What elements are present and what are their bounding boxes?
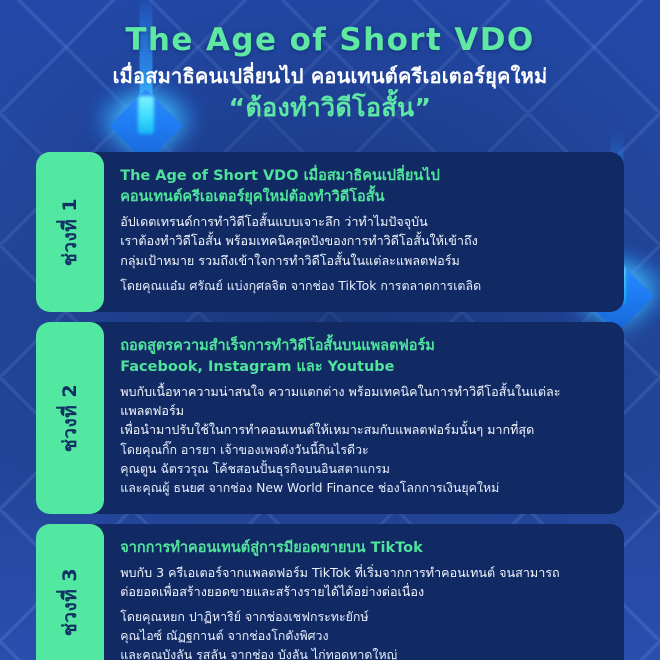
session-description-line: พบกับเนื้อหาความน่าสนใจ ความแตกต่าง พร้อ…	[120, 384, 560, 418]
session-description-line: พบกับ 3 ครีเอเตอร์จากแพลตฟอร์ม TikTok ที…	[120, 565, 559, 580]
session-speakers: โดยคุณแอ๋ม ศรัณย์ แบ่งกุศลจิต จากช่อง Ti…	[120, 277, 602, 296]
session-tab-2[interactable]: ช่วงที่ 2	[36, 322, 104, 514]
session-card-body: ถอดสูตรความสำเร็จการทำวิดีโอสั้นบนแพลตฟอ…	[88, 322, 624, 514]
session-description: พบกับ 3 ครีเอเตอร์จากแพลตฟอร์ม TikTok ที…	[120, 563, 602, 601]
session-speaker-line: และคุณบังลัน รุสลัน จากช่อง บังลัน ไก่ทอ…	[120, 647, 397, 660]
session-speaker-line: โดยคุณแอ๋ม ศรัณย์ แบ่งกุศลจิต จากช่อง Ti…	[120, 278, 481, 293]
session-speaker-line: โดยคุณหยก ปาฏิหาริย์ จากช่องเชฟกระทะยักษ…	[120, 609, 368, 624]
session-description: อัปเดตเทรนด์การทำวิดีโอสั้นแบบเจาะลึก ว่…	[120, 212, 602, 269]
session-card-list: ช่วงที่ 1 The Age of Short VDO เมื่อสมาธ…	[0, 152, 660, 660]
session-card: ช่วงที่ 2 ถอดสูตรความสำเร็จการทำวิดีโอสั…	[36, 322, 624, 514]
poster-header: The Age of Short VDO เมื่อสมาธิคนเปลี่ยน…	[0, 22, 660, 124]
session-speaker-line: คุณตูน ฉัตรวรุณ โค้ชสอนปั้นธุรกิจบนอินสต…	[120, 461, 390, 476]
session-title: ถอดสูตรความสำเร็จการทำวิดีโอสั้นบนแพลตฟอ…	[120, 336, 602, 378]
session-title-line: The Age of Short VDO เมื่อสมาธิคนเปลี่ยน…	[120, 168, 440, 184]
session-card-body: The Age of Short VDO เมื่อสมาธิคนเปลี่ยน…	[88, 152, 624, 312]
session-tab-label: ช่วงที่ 3	[55, 568, 85, 636]
session-speaker-line: และคุณผู้ ธนยศ จากช่อง New World Finance…	[120, 480, 499, 495]
session-description-line: เพื่อนำมาปรับใช้ในการทำคอนเทนต์ให้เหมาะส…	[120, 422, 534, 437]
session-tab-label: ช่วงที่ 1	[55, 198, 85, 266]
session-title: จากการทำคอนเทนต์สู่การมียอดขายบน TikTok	[120, 538, 602, 559]
session-title-line: คอนเทนต์ครีเอเตอร์ยุคใหม่ต้องทำวิดีโอสั้…	[120, 189, 384, 205]
session-speakers: โดยคุณหยก ปาฏิหาริย์ จากช่องเชฟกระทะยักษ…	[120, 608, 602, 660]
session-card-body: จากการทำคอนเทนต์สู่การมียอดขายบน TikTok …	[88, 524, 624, 660]
page-title-english: The Age of Short VDO	[0, 22, 660, 59]
session-title: The Age of Short VDO เมื่อสมาธิคนเปลี่ยน…	[120, 166, 602, 208]
session-card: ช่วงที่ 1 The Age of Short VDO เมื่อสมาธ…	[36, 152, 624, 312]
session-title-line: ถอดสูตรความสำเร็จการทำวิดีโอสั้นบนแพลตฟอ…	[120, 338, 435, 354]
session-description-line: อัปเดตเทรนด์การทำวิดีโอสั้นแบบเจาะลึก ว่…	[120, 214, 428, 229]
session-card: ช่วงที่ 3 จากการทำคอนเทนต์สู่การมียอดขาย…	[36, 524, 624, 660]
session-description: พบกับเนื้อหาความน่าสนใจ ความแตกต่าง พร้อ…	[120, 382, 602, 439]
session-speaker-line: คุณไอซ์ ณัฏฐกานต์ จากช่องโกดังพิศวง	[120, 628, 328, 643]
session-tab-1[interactable]: ช่วงที่ 1	[36, 152, 104, 312]
page-subtitle-thai: เมื่อสมาธิคนเปลี่ยนไป คอนเทนต์ครีเอเตอร์…	[0, 63, 660, 90]
session-description-line: กลุ่มเป้าหมาย รวมถึงเข้าใจการทำวิดีโอสั้…	[120, 253, 460, 268]
session-title-line: Facebook, Instagram และ Youtube	[120, 359, 394, 375]
session-tab-3[interactable]: ช่วงที่ 3	[36, 524, 104, 660]
session-speaker-line: โดยคุณกิ๊ก อารยา เจ้าของเพจดังวันนี้กินไ…	[120, 442, 369, 457]
poster-canvas: The Age of Short VDO เมื่อสมาธิคนเปลี่ยน…	[0, 0, 660, 660]
session-title-line: จากการทำคอนเทนต์สู่การมียอดขายบน TikTok	[120, 540, 423, 556]
session-description-line: เราต้องทำวิดีโอสั้น พร้อมเทคนิคสุดปังของ…	[120, 233, 478, 248]
session-speakers: โดยคุณกิ๊ก อารยา เจ้าของเพจดังวันนี้กินไ…	[120, 441, 602, 498]
session-tab-label: ช่วงที่ 2	[55, 384, 85, 452]
session-description-line: ต่อยอดเพื่อสร้างยอดขายและสร้างรายได้ได้อ…	[120, 584, 424, 599]
page-title-quote: “ต้องทำวิดีโอสั้น”	[0, 92, 660, 125]
